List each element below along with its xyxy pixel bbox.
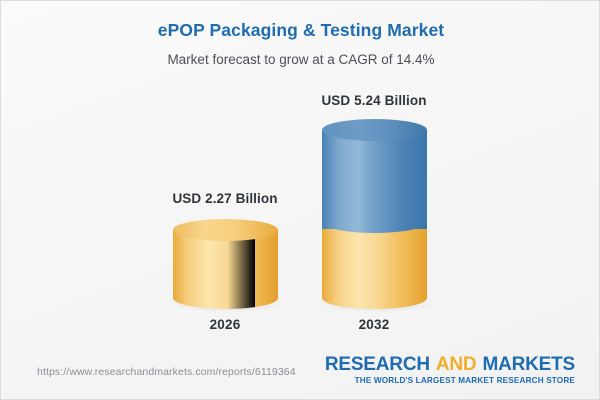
value-label-2032: USD 5.24 Billion — [289, 93, 459, 108]
brand-logo[interactable]: RESEARCHANDMARKETS THE WORLD'S LARGEST M… — [325, 354, 575, 385]
logo-word-markets: MARKETS — [482, 354, 575, 375]
x-axis-label-2032: 2032 — [289, 317, 459, 332]
logo-word-and: AND — [436, 354, 477, 375]
cylinder-2026-graphic — [173, 219, 278, 309]
cylinder-bar-2026[interactable] — [173, 219, 278, 309]
logo-tagline: THE WORLD'S LARGEST MARKET RESEARCH STOR… — [325, 376, 575, 385]
cylinder-2032-graphic — [322, 119, 427, 309]
infographic-card: ePOP Packaging & Testing Market Market f… — [0, 0, 600, 400]
footer: https://www.researchandmarkets.com/repor… — [1, 346, 600, 399]
logo-wordmark: RESEARCHANDMARKETS — [325, 354, 575, 375]
x-axis-label-2026: 2026 — [140, 317, 310, 332]
logo-word-research: RESEARCH — [325, 354, 430, 375]
value-label-2026: USD 2.27 Billion — [140, 191, 310, 206]
report-url[interactable]: https://www.researchandmarkets.com/repor… — [37, 366, 296, 378]
chart-plot-area: USD 2.27 Billion — [1, 1, 600, 346]
cylinder-bar-2032[interactable] — [322, 119, 427, 309]
